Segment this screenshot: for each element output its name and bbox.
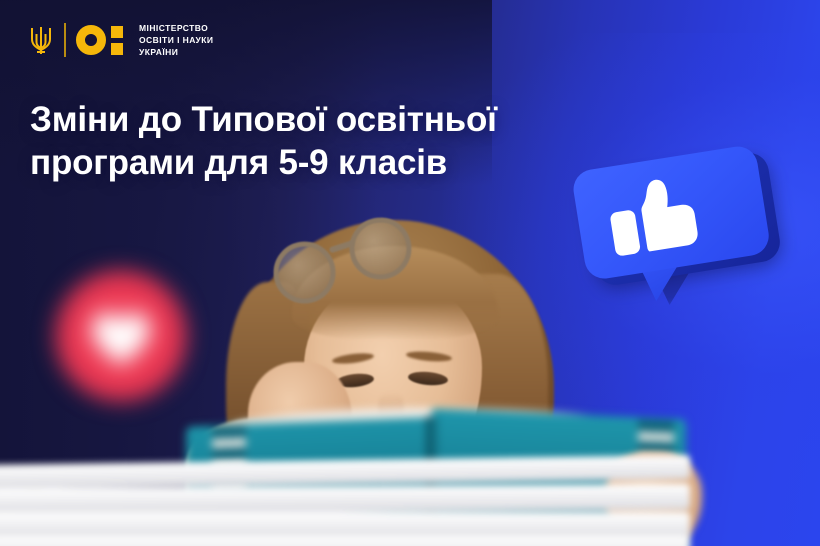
- heart-reaction-icon: [55, 270, 187, 402]
- headline-line-1: Зміни до Типової освітньої: [30, 98, 590, 141]
- book-stack-layer: [0, 536, 690, 546]
- mark-ring: [76, 25, 106, 55]
- mon-announcement-banner: МІНІСТЕРСТВО ОСВІТИ І НАУКИ УКРАЇНИ Змін…: [0, 0, 820, 546]
- mon-o-colon-mark-icon: [76, 25, 123, 55]
- mark-square-top: [111, 26, 123, 38]
- heart-glyph-icon: [90, 311, 152, 367]
- ukraine-trident-icon: [28, 23, 54, 57]
- ministry-logo-text: МІНІСТЕРСТВО ОСВІТИ І НАУКИ УКРАЇНИ: [139, 22, 213, 58]
- mark-square-bottom: [111, 43, 123, 55]
- ministry-logo[interactable]: МІНІСТЕРСТВО ОСВІТИ І НАУКИ УКРАЇНИ: [28, 22, 213, 58]
- logo-text-line-1: МІНІСТЕРСТВО: [139, 22, 213, 34]
- logo-divider: [64, 23, 66, 57]
- logo-text-line-3: УКРАЇНИ: [139, 46, 213, 58]
- book-stack: [0, 450, 690, 546]
- thumbs-up-glyph-icon: [603, 171, 709, 259]
- mark-squares: [111, 26, 123, 55]
- book-stack-layer: [0, 484, 690, 515]
- page-title: Зміни до Типової освітньої програми для …: [30, 98, 590, 185]
- headline-line-2: програми для 5-9 класів: [30, 141, 590, 184]
- logo-text-line-2: ОСВІТИ І НАУКИ: [139, 34, 213, 46]
- glasses-lens-right: [346, 214, 414, 282]
